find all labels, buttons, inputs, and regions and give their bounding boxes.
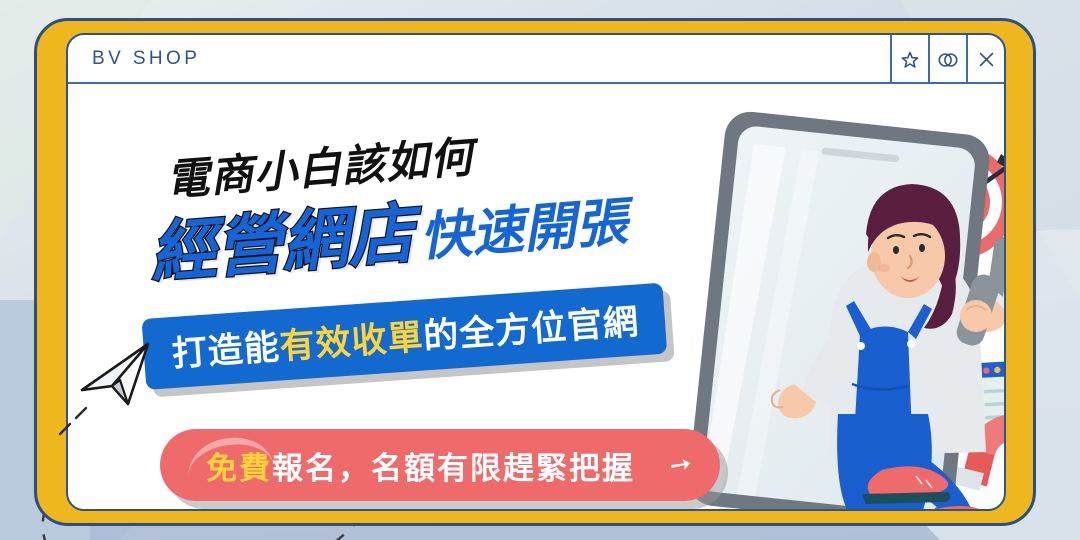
- card-body: 電商小白該如何 經營網店 快速開張 打造能有效收單的全方位官網 免費報名，名額有…: [68, 84, 1004, 511]
- window-titlebar: BV SHOP: [68, 35, 1004, 84]
- browser-window-card: BV SHOP: [66, 33, 1006, 511]
- favorite-star-icon[interactable]: [890, 35, 928, 84]
- window-controls: [890, 35, 1004, 84]
- cta-rest: 報名，名額有限趕緊把握: [272, 451, 635, 487]
- close-icon[interactable]: [966, 35, 1004, 84]
- rings-icon[interactable]: [928, 35, 966, 84]
- cta-button[interactable]: 免費報名，名額有限趕緊把握 ➚: [160, 429, 720, 501]
- brand-logo: BV SHOP: [92, 48, 200, 70]
- cta-arrow-icon: ➚: [663, 446, 699, 484]
